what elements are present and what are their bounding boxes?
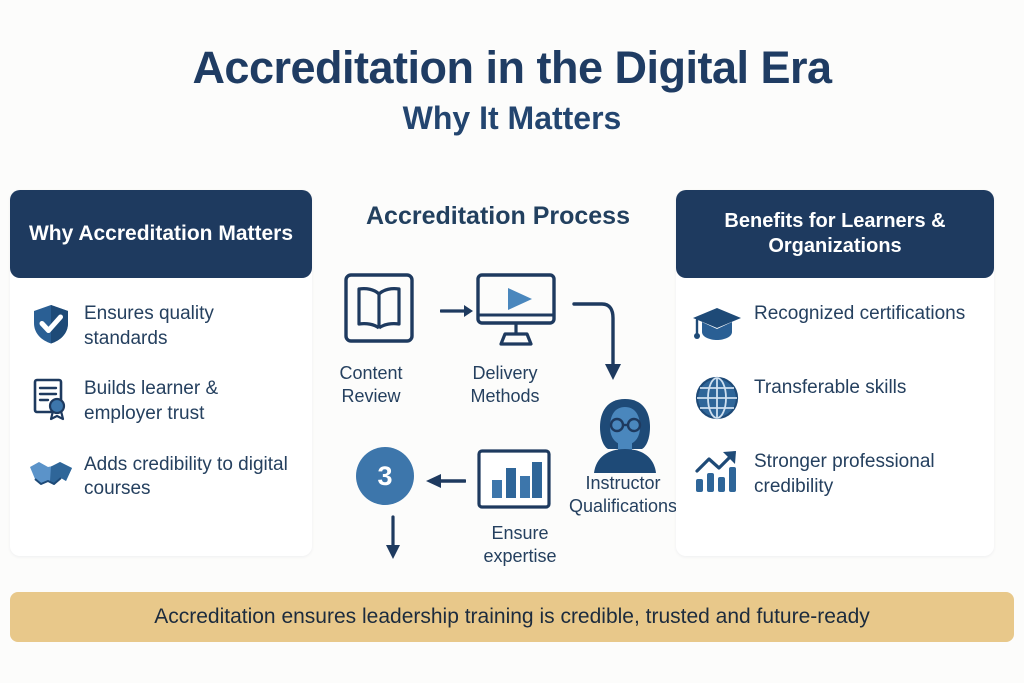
left-card-header-text: Why Accreditation Matters <box>29 221 293 247</box>
growth-chart-icon <box>690 446 744 498</box>
globe-icon <box>690 372 744 424</box>
summary-banner-text: Accreditation ensures leadership trainin… <box>154 605 870 629</box>
summary-banner: Accreditation ensures leadership trainin… <box>10 592 1014 642</box>
certificate-icon <box>24 373 78 425</box>
left-card-header: Why Accreditation Matters <box>10 190 312 278</box>
infographic-page: Accreditation in the Digital Era Why It … <box>0 0 1024 683</box>
arrow-right-icon <box>440 302 474 325</box>
right-card-body: Recognized certifications Transferable s… <box>676 278 994 521</box>
bar-chart-icon <box>476 448 552 515</box>
process-step-label: Ensure expertise <box>460 522 580 567</box>
step-badge-number: 3 <box>356 447 414 505</box>
benefits-card: Benefits for Learners & Organizations Re… <box>676 190 994 556</box>
right-card-header-text: Benefits for Learners & Organizations <box>688 209 982 259</box>
list-item-label: Transferable skills <box>744 372 906 401</box>
arrow-down-icon <box>383 515 403 566</box>
shield-check-icon <box>24 298 78 350</box>
list-item: Adds credibility to digital courses <box>24 449 298 502</box>
list-item-label: Stronger professional credibility <box>744 446 980 499</box>
page-subtitle: Why It Matters <box>0 102 1024 136</box>
list-item: Transferable skills <box>690 372 980 424</box>
accreditation-process-section: Accreditation Process Content Review <box>320 190 676 590</box>
why-accreditation-matters-card: Why Accreditation Matters Ensures qualit… <box>10 190 312 556</box>
curved-arrow-down-icon <box>572 290 632 395</box>
list-item-label: Recognized certifications <box>744 298 965 327</box>
arrow-left-icon <box>424 472 466 495</box>
list-item-label: Builds learner & employer trust <box>78 373 298 426</box>
process-step-label: Delivery Methods <box>445 362 565 407</box>
list-item-label: Adds credibility to digital courses <box>78 449 298 502</box>
process-title: Accreditation Process <box>320 202 676 231</box>
list-item: Ensures quality standards <box>24 298 298 351</box>
list-item-label: Ensures quality standards <box>78 298 298 351</box>
list-item: Recognized certifications <box>690 298 980 350</box>
page-title: Accreditation in the Digital Era <box>0 44 1024 92</box>
title-block: Accreditation in the Digital Era Why It … <box>0 44 1024 136</box>
list-item: Stronger professional credibility <box>690 446 980 499</box>
instructor-avatar-icon <box>582 395 668 482</box>
handshake-icon <box>24 449 78 501</box>
step-badge-3: 3 <box>356 447 414 505</box>
right-card-header: Benefits for Learners & Organizations <box>676 190 994 278</box>
list-item: Builds learner & employer trust <box>24 373 298 426</box>
left-card-body: Ensures quality standards Builds learner… <box>10 278 312 524</box>
process-step-label: Content Review <box>311 362 431 407</box>
monitor-play-icon <box>475 272 557 353</box>
graduation-cap-icon <box>690 298 744 350</box>
open-book-icon <box>343 272 415 349</box>
